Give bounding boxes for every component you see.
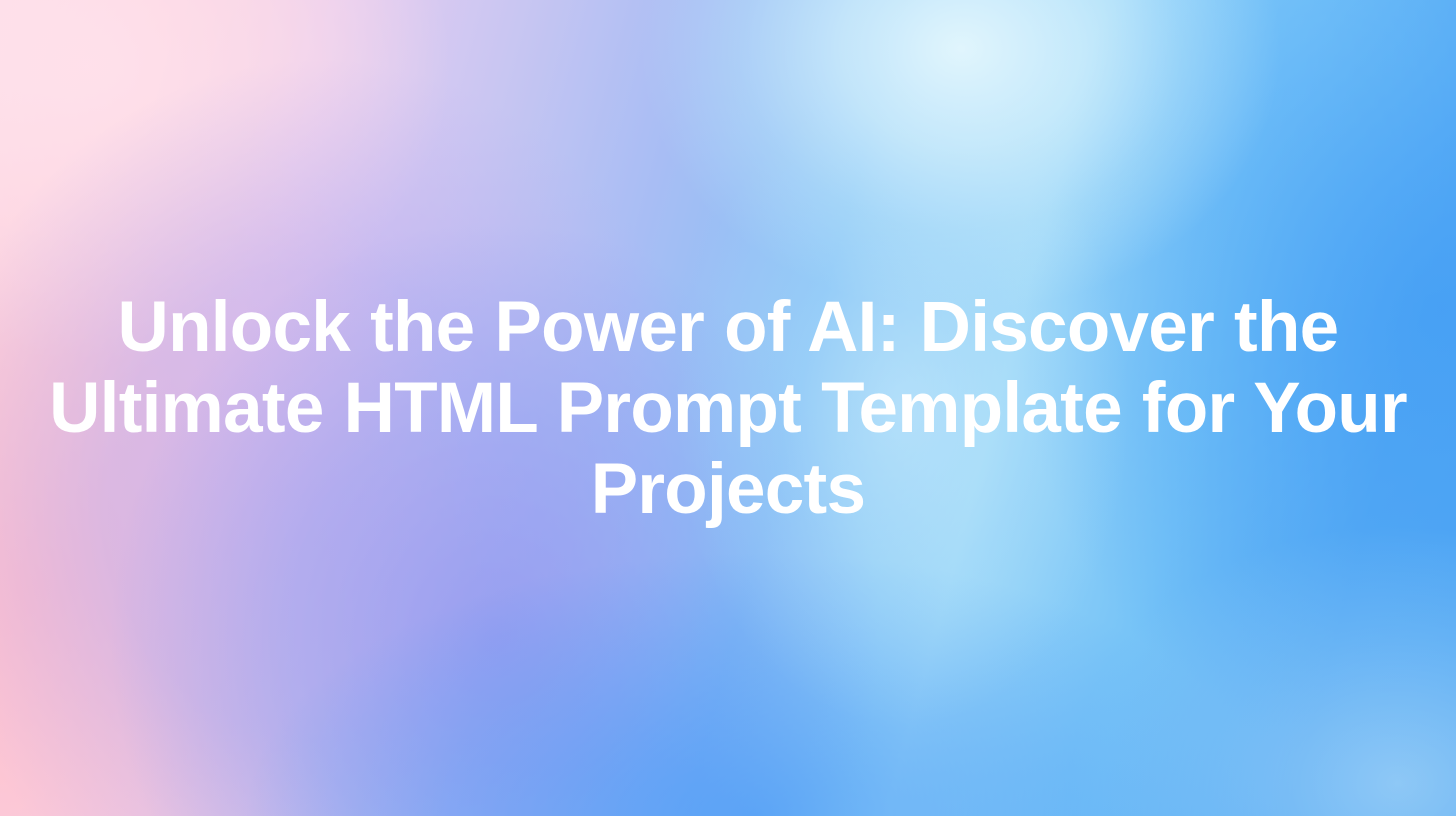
headline-container: Unlock the Power of AI: Discover the Ult… [0, 287, 1456, 530]
hero-banner: Unlock the Power of AI: Discover the Ult… [0, 0, 1456, 816]
page-title: Unlock the Power of AI: Discover the Ult… [10, 287, 1446, 530]
